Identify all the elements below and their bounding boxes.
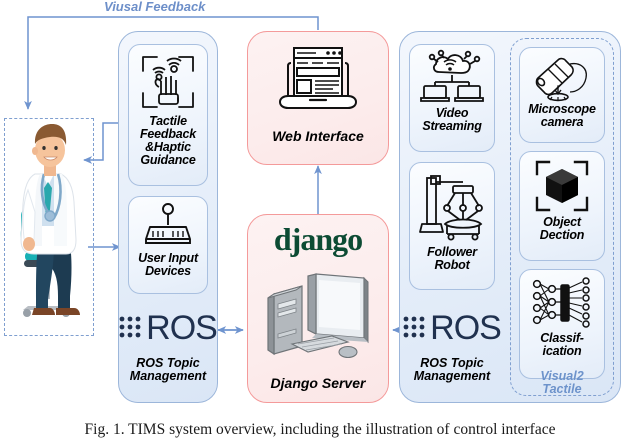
ros-logo-right-text: ROS [430, 309, 501, 348]
visual-feedback-title: Viusal Feedback [104, 0, 205, 14]
cloud-streaming-icon [419, 50, 485, 106]
desktop-computer-icon [262, 264, 374, 364]
card-user-input-devices[interactable]: User Input Devices [128, 196, 208, 294]
ros-dots-icon [403, 315, 429, 341]
card-tactile-feedback[interactable]: Tactile Feedback &Haptic Guidance [128, 44, 208, 186]
label-line: Feedback [140, 128, 196, 141]
ros-logo-left: ROS [122, 306, 214, 350]
label-line: &Haptic [140, 141, 196, 154]
label-line: Guidance [140, 154, 196, 167]
ros-logo-right: ROS [406, 306, 498, 350]
django-logo-text: django [247, 221, 389, 258]
card-user-input-devices-label: User Input Devices [138, 252, 198, 278]
django-server-label: Django Server [247, 376, 389, 391]
label-line: camera [528, 116, 595, 129]
card-object-detection-label: Object Dection [540, 216, 584, 242]
haptic-glove-icon [137, 51, 199, 113]
neural-network-icon [530, 275, 594, 331]
cube-detection-icon [533, 158, 591, 214]
ros-logo-left-text: ROS [146, 309, 217, 348]
card-follower-robot-label: Follower Robot [427, 246, 477, 272]
label-line: Classif- [540, 332, 584, 345]
label-line: Object [540, 216, 584, 229]
right-panel-caption: ROS Topic Management [400, 357, 504, 383]
web-interface-label: Web Interface [247, 129, 389, 144]
label-line: Robot [427, 259, 477, 272]
card-tactile-feedback-label: Tactile Feedback &Haptic Guidance [140, 115, 196, 167]
card-classification-label: Classif- ication [540, 332, 584, 358]
caption-line: Management [118, 370, 218, 383]
label-line: Streaming [422, 120, 481, 133]
laptop-browser-icon [268, 40, 368, 118]
microscope-camera-icon [530, 52, 594, 102]
visual2tactile-label: Visual2 Tactile [510, 370, 614, 396]
robot-arm-icon [417, 168, 487, 246]
card-object-detection[interactable]: Object Dection [519, 151, 605, 261]
ros-dots-icon [119, 315, 145, 341]
card-follower-robot[interactable]: Follower Robot [409, 162, 495, 290]
label-line: Follower [427, 246, 477, 259]
card-microscope-camera-label: Microscope camera [528, 103, 595, 129]
figure-caption: Fig. 1. TIMS system overview, including … [0, 421, 640, 439]
label-line: Tactile [140, 115, 196, 128]
label-line: Devices [138, 265, 198, 278]
caption-line: Management [400, 370, 504, 383]
card-classification[interactable]: Classif- ication [519, 269, 605, 379]
figure-canvas: Viusal Feedback [0, 0, 640, 440]
label-line: Dection [540, 229, 584, 242]
card-video-streaming[interactable]: Video Streaming [409, 44, 495, 152]
label-line: Microscope [528, 103, 595, 116]
label-line: ication [540, 345, 584, 358]
label-line: Video [422, 107, 481, 120]
card-microscope-camera[interactable]: Microscope camera [519, 47, 605, 143]
joystick-icon [140, 201, 196, 251]
left-panel-caption: ROS Topic Management [118, 357, 218, 383]
label-line: Tactile [510, 383, 614, 396]
label-line: User Input [138, 252, 198, 265]
doctor-operator [14, 120, 90, 336]
card-video-streaming-label: Video Streaming [422, 107, 481, 133]
